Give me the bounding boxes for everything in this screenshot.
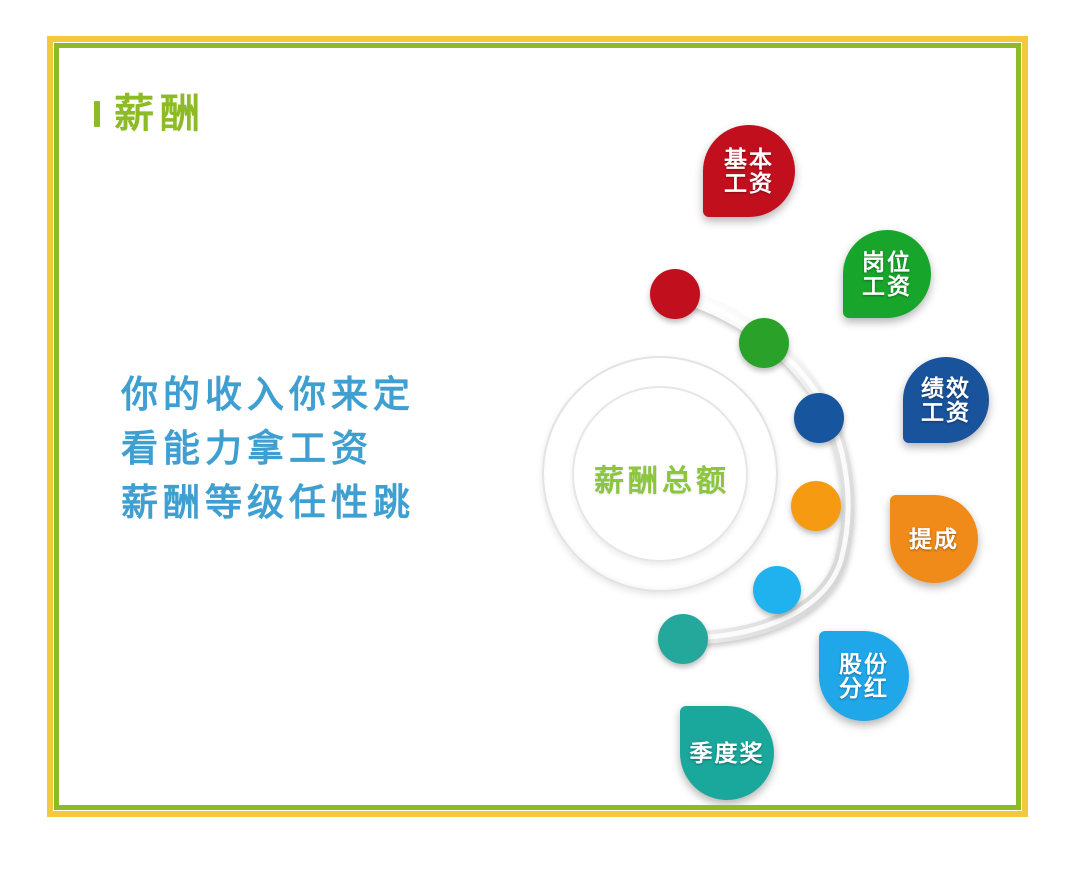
node-dot-ticheng[interactable] — [791, 481, 841, 531]
callout-gufenfenhong-label: 股份分红 — [838, 652, 890, 701]
callout-gangweigongzi[interactable]: 岗位工资 — [843, 230, 931, 318]
node-dot-gufenfenhong[interactable] — [753, 566, 801, 614]
page-title: 薪酬 — [94, 94, 206, 134]
node-dot-gangweigongzi[interactable] — [739, 318, 789, 368]
callout-jibengongzi-label: 基本工资 — [723, 147, 775, 196]
callout-jixiaogongzi[interactable]: 绩效工资 — [903, 357, 989, 443]
slide-content-area: 薪酬 你的收入你来定 看能力拿工资 薪酬等级任性跳 — [59, 48, 1016, 805]
slogan-line-3: 薪酬等级任性跳 — [121, 476, 415, 530]
slogan-line-2: 看能力拿工资 — [121, 422, 415, 476]
node-dot-jiduijiang[interactable] — [658, 614, 708, 664]
page-title-text: 薪酬 — [114, 94, 206, 134]
node-dot-jibengongzi[interactable] — [650, 269, 700, 319]
slide-canvas: 薪酬 你的收入你来定 看能力拿工资 薪酬等级任性跳 — [0, 0, 1080, 872]
node-dot-jixiaogongzi[interactable] — [794, 393, 844, 443]
title-marker-icon — [94, 101, 100, 127]
callout-jibengongzi[interactable]: 基本工资 — [703, 125, 795, 217]
callout-jixiaogongzi-label: 绩效工资 — [920, 376, 972, 425]
slogan-line-1: 你的收入你来定 — [121, 368, 415, 422]
callout-jiduijiang-label: 季度奖 — [687, 741, 767, 765]
callout-jiduijiang[interactable]: 季度奖 — [680, 706, 774, 800]
callout-ticheng-label: 提成 — [903, 527, 965, 551]
hub-label: 薪酬总额 — [482, 456, 842, 500]
slogan-block: 你的收入你来定 看能力拿工资 薪酬等级任性跳 — [121, 368, 415, 530]
callout-ticheng[interactable]: 提成 — [890, 495, 978, 583]
callout-gangweigongzi-label: 岗位工资 — [861, 250, 913, 299]
callout-gufenfenhong[interactable]: 股份分红 — [819, 631, 909, 721]
